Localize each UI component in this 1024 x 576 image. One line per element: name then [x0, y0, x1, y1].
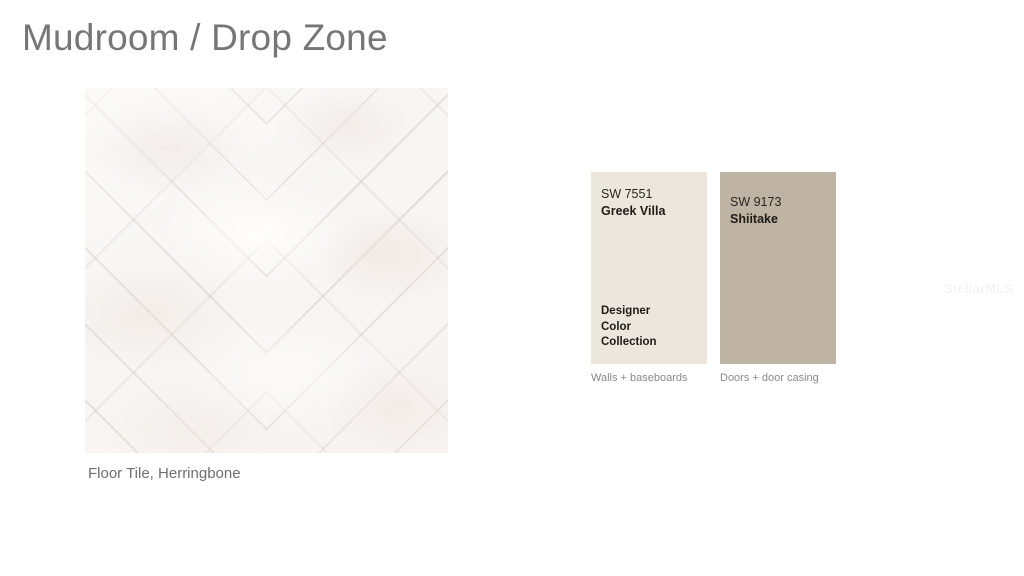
- swatch-usage-caption: Walls + baseboards: [591, 372, 707, 384]
- floor-tile-caption: Floor Tile, Herringbone: [88, 465, 241, 482]
- tile-sheen-overlay: [85, 88, 448, 453]
- swatch-chip-greek-villa: SW 7551 Greek Villa Designer Color Colle…: [591, 172, 707, 364]
- swatch-collection-line-2: Color: [601, 320, 657, 335]
- page-title: Mudroom / Drop Zone: [22, 16, 388, 60]
- swatch-code: SW 9173: [730, 194, 836, 211]
- swatch-collection-label: Designer Color Collection: [601, 304, 657, 350]
- swatch-usage-caption: Doors + door casing: [720, 372, 836, 384]
- swatch-chip-shiitake: SW 9173 Shiitake: [720, 172, 836, 364]
- floor-tile-image: [85, 88, 448, 453]
- swatch-name: Greek Villa: [601, 203, 707, 220]
- swatch-name: Shiitake: [730, 211, 836, 228]
- stellar-mls-watermark: StellarMLS: [944, 281, 1013, 296]
- floor-tile-figure: [85, 88, 448, 453]
- paint-swatch-greek-villa: SW 7551 Greek Villa Designer Color Colle…: [591, 172, 707, 384]
- swatch-code: SW 7551: [601, 186, 707, 203]
- swatch-collection-line-3: Collection: [601, 335, 657, 350]
- swatch-collection-line-1: Designer: [601, 304, 657, 319]
- paint-swatch-shiitake: SW 9173 Shiitake Doors + door casing: [720, 172, 836, 384]
